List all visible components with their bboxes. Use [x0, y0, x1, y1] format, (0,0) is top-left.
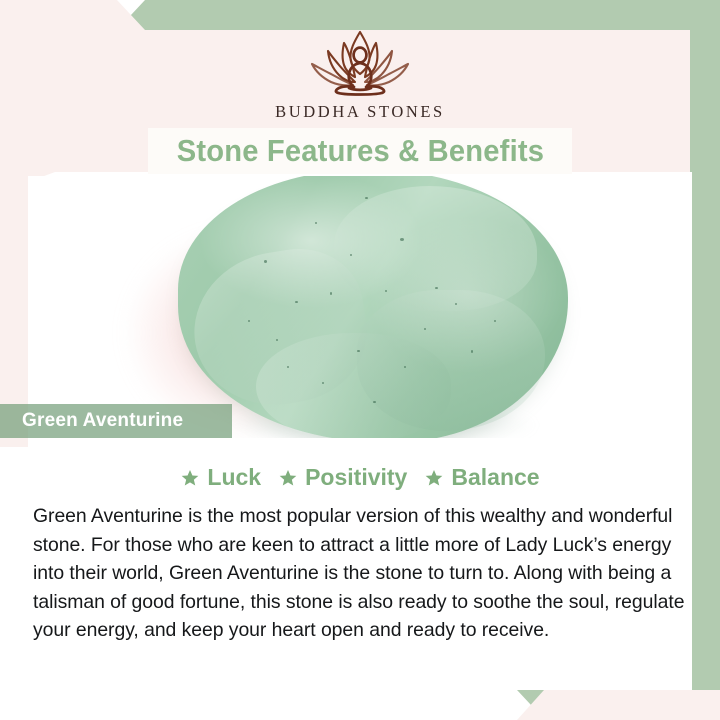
stone-name-label: Green Aventurine: [22, 410, 183, 432]
stone-description: Green Aventurine is the most popular ver…: [33, 502, 687, 645]
lotus-meditation-icon: [276, 26, 444, 98]
benefits-list: Luck Positivity Balance: [28, 464, 692, 491]
benefit-item: Balance: [424, 464, 539, 491]
star-icon: [180, 468, 200, 488]
brand-logo: BUDDHA STONES: [0, 26, 720, 122]
infographic-card: BUDDHA STONES Stone Features & Benefits: [0, 0, 720, 720]
benefit-item: Positivity: [278, 464, 407, 491]
section-title-banner: Stone Features & Benefits: [148, 128, 572, 174]
stone-speck: [264, 260, 267, 263]
stone-speck: [315, 222, 317, 224]
page-title: Stone Features & Benefits: [176, 133, 543, 169]
aventurine-stone-graphic: [178, 176, 568, 438]
star-icon: [424, 468, 444, 488]
stone-speck: [295, 301, 298, 303]
benefit-label: Luck: [207, 464, 261, 491]
stone-name-bar: Green Aventurine: [0, 404, 232, 438]
benefit-label: Positivity: [305, 464, 407, 491]
stone-speck: [276, 339, 278, 341]
stone-speck: [424, 328, 426, 330]
benefit-label: Balance: [451, 464, 539, 491]
star-icon: [278, 468, 298, 488]
stone-speck: [248, 320, 250, 322]
stone-details: Luck Positivity Balance Green Aventurine…: [28, 450, 692, 645]
benefit-item: Luck: [180, 464, 261, 491]
stone-speck: [471, 350, 473, 353]
stone-body: [178, 176, 568, 438]
stone-speck: [357, 350, 360, 352]
stone-speck: [385, 290, 387, 292]
stone-facet: [256, 333, 451, 438]
stone-photo: [28, 176, 692, 438]
brand-name: BUDDHA STONES: [275, 102, 445, 122]
stone-speck: [494, 320, 496, 322]
